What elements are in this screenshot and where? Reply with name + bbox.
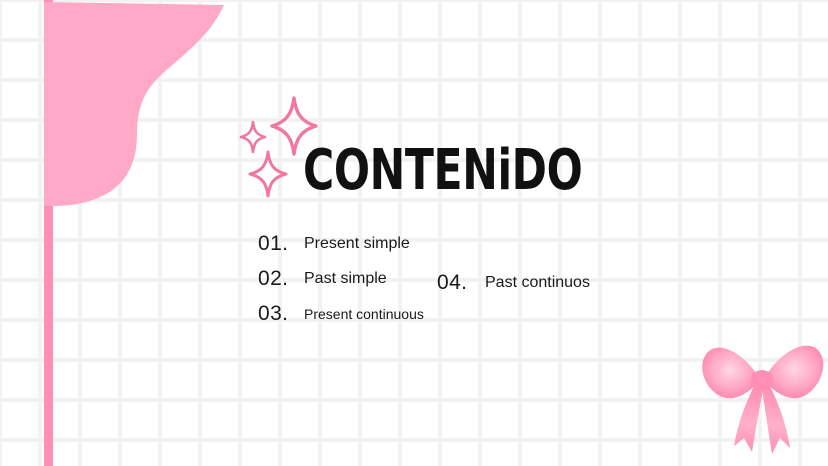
bow-loop-right xyxy=(766,346,823,399)
list-item-number: 04. xyxy=(437,271,485,295)
page-title: CONTENiDO xyxy=(303,142,582,200)
bow-loop-left xyxy=(702,348,758,399)
list-item-number: 03. xyxy=(258,302,304,326)
list-item-label: Past simple xyxy=(304,269,387,289)
slide-canvas: CONTENiDO 01. Present simple 02. Past si… xyxy=(0,0,828,466)
flag-body xyxy=(44,2,224,206)
list-item[interactable]: 01. Present simple xyxy=(258,232,438,256)
pink-flag-banner xyxy=(0,0,260,466)
contents-column-left: 01. Present simple 02. Past simple 03. P… xyxy=(258,232,438,337)
list-item[interactable]: 02. Past simple xyxy=(258,267,438,291)
list-item-label: Present continuous xyxy=(304,305,424,324)
sparkle-medium-icon xyxy=(250,152,286,196)
list-item[interactable]: 03. Present continuous xyxy=(258,302,438,326)
list-item-number: 01. xyxy=(258,232,304,256)
contents-column-right: 04. Past continuos xyxy=(437,271,677,306)
list-item-number: 02. xyxy=(258,267,304,291)
list-item[interactable]: 04. Past continuos xyxy=(437,271,677,295)
list-item-label: Past continuos xyxy=(485,273,590,293)
pink-bow-icon xyxy=(694,332,828,466)
list-item-label: Present simple xyxy=(304,234,410,254)
sparkle-small-icon xyxy=(241,122,265,152)
bow-knot xyxy=(751,370,773,390)
